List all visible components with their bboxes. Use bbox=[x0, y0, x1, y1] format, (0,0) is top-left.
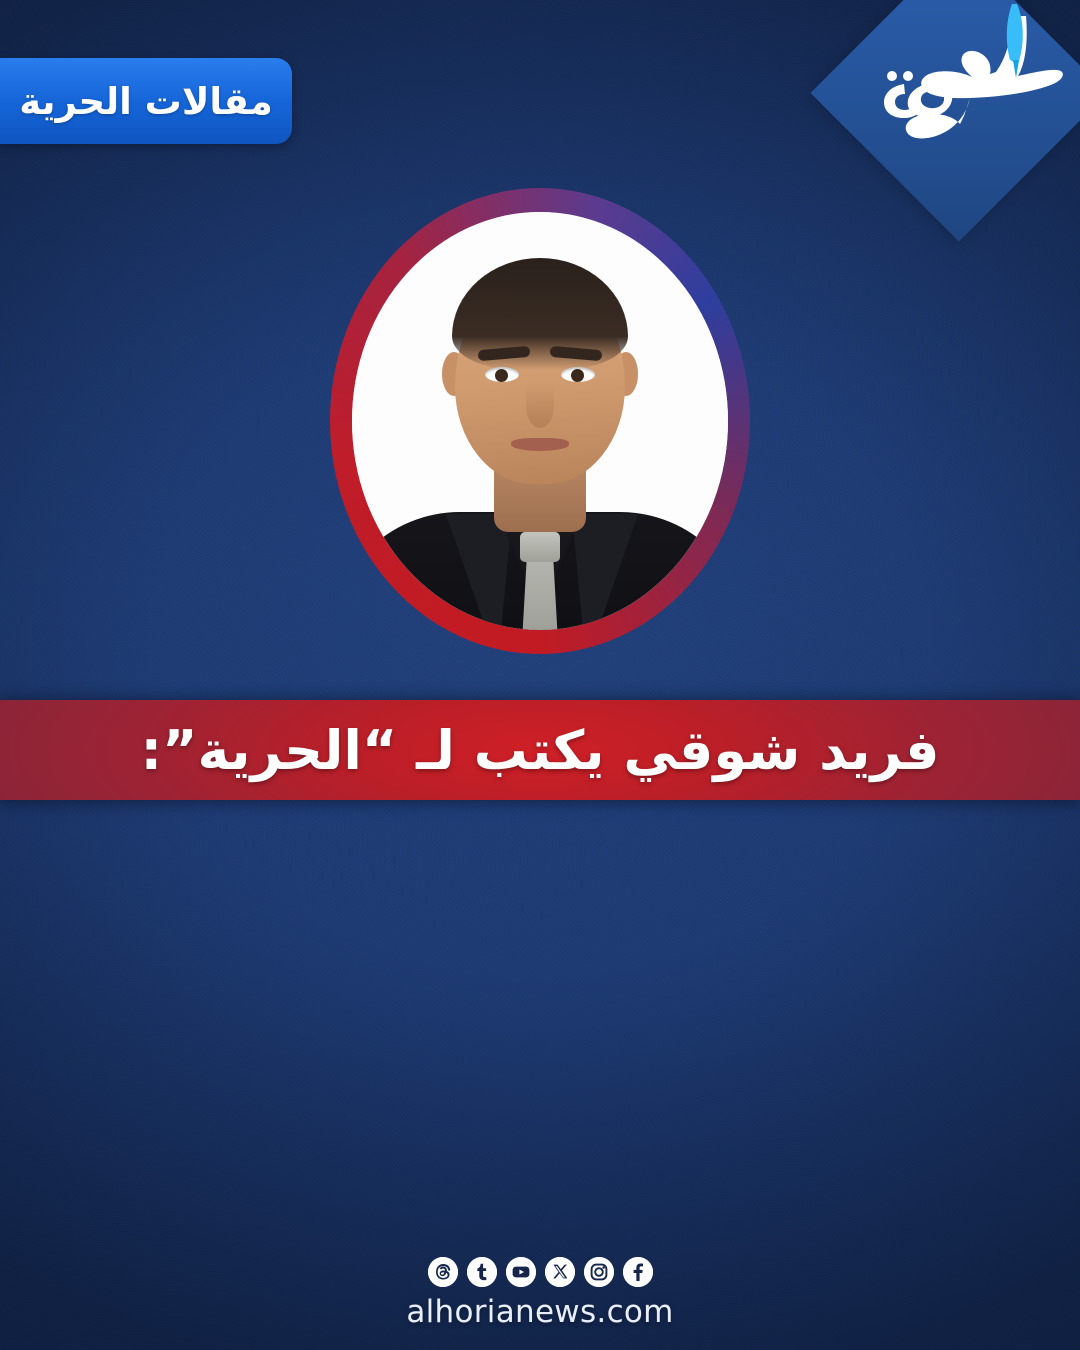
portrait-photo bbox=[352, 212, 728, 630]
quote-block: “ حماية أبنائنا مسؤولية دولة “ bbox=[0, 840, 1080, 1240]
author-portrait bbox=[330, 188, 750, 654]
category-badge[interactable]: مقالات الحرية bbox=[0, 58, 292, 144]
facebook-icon[interactable] bbox=[623, 1257, 653, 1287]
x-twitter-icon[interactable] bbox=[545, 1257, 575, 1287]
footer: alhorianews.com bbox=[0, 1257, 1080, 1330]
banner-text: فريد شوقي يكتب لـ “الحرية”: bbox=[140, 719, 939, 782]
headline-banner: فريد شوقي يكتب لـ “الحرية”: bbox=[0, 700, 1080, 800]
brand-logo[interactable] bbox=[830, 0, 1080, 222]
instagram-icon[interactable] bbox=[584, 1257, 614, 1287]
article-promo-card: مقالات الحرية bbox=[0, 0, 1080, 1350]
logo-calligraphy bbox=[830, 0, 1080, 222]
threads-icon[interactable] bbox=[428, 1257, 458, 1287]
website-url[interactable]: alhorianews.com bbox=[0, 1294, 1080, 1330]
category-badge-label: مقالات الحرية bbox=[19, 80, 273, 123]
youtube-icon[interactable] bbox=[506, 1257, 536, 1287]
social-links bbox=[0, 1257, 1080, 1287]
tumblr-icon[interactable] bbox=[467, 1257, 497, 1287]
